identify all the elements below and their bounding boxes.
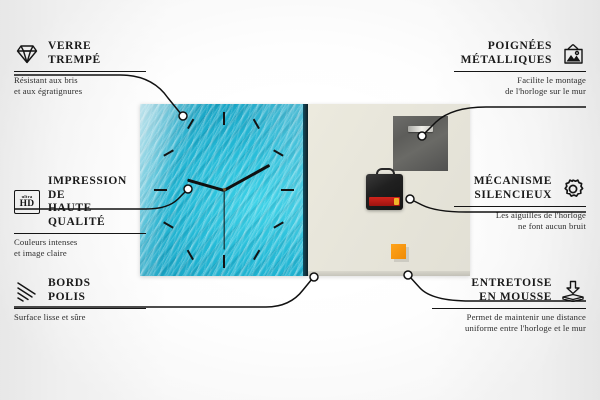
feature-impression-haute-qualite: ultra HD IMPRESSION DE HAUTE QUALITÉ Cou… xyxy=(14,175,146,259)
clock-second-hand xyxy=(223,190,224,250)
feature-subtitle-line2: uniforme entre l'horloge et le mur xyxy=(432,323,586,334)
feature-header: VERRE TREMPÉ xyxy=(14,40,146,67)
feature-title: IMPRESSION DE HAUTE QUALITÉ xyxy=(48,175,146,229)
feature-subtitle-line1: Surface lisse et sûre xyxy=(14,312,146,323)
clock-center-pin xyxy=(223,188,226,191)
ultra-hd-icon: ultra HD xyxy=(14,190,40,214)
foam-spacer-arrow-icon xyxy=(560,279,586,303)
feature-subtitle-line2: ne font aucun bruit xyxy=(454,221,586,232)
feature-subtitle-line2: et image claire xyxy=(14,248,146,259)
clock-tick-3 xyxy=(281,189,294,191)
feature-subtitle-line2: de l'horloge sur le mur xyxy=(454,86,586,97)
infographic-canvas: VERRE TREMPÉ Résistant aux bris et aux é… xyxy=(0,0,600,400)
feature-mecanisme-silencieux: MÉCANISME SILENCIEUX Les aiguilles de l'… xyxy=(454,175,586,232)
feature-header: POIGNÉES MÉTALLIQUES xyxy=(454,40,586,67)
clock-tick-6 xyxy=(223,255,225,268)
metal-hanger-plate xyxy=(393,116,448,171)
feature-subtitle-line1: Permet de maintenir une distance xyxy=(432,312,586,323)
divider xyxy=(454,71,586,72)
feature-subtitle-line1: Facilite le montage xyxy=(454,75,586,86)
feature-title: VERRE TREMPÉ xyxy=(48,40,101,67)
diamond-icon xyxy=(14,42,40,66)
gear-icon xyxy=(560,177,586,201)
divider xyxy=(454,206,586,207)
divider xyxy=(14,71,146,72)
feature-subtitle-line1: Couleurs intenses xyxy=(14,237,146,248)
divider xyxy=(14,233,146,234)
divider xyxy=(14,308,146,309)
feature-verre-trempe: VERRE TREMPÉ Résistant aux bris et aux é… xyxy=(14,40,146,97)
product-image xyxy=(140,104,470,276)
clock-tick-12 xyxy=(223,112,225,125)
wall-frame-hanger-icon xyxy=(560,42,586,66)
polished-edge-lines-icon xyxy=(14,279,40,303)
feature-title: POIGNÉES MÉTALLIQUES xyxy=(461,40,552,67)
feature-poignees-metalliques: POIGNÉES MÉTALLIQUES Facilite le montage… xyxy=(454,40,586,97)
clock-tick-9 xyxy=(154,189,167,191)
feature-entretoise-en-mousse: ENTRETOISE EN MOUSSE Permet de maintenir… xyxy=(432,277,586,334)
feature-bords-polis: BORDS POLIS Surface lisse et sûre xyxy=(14,277,146,323)
feature-title: ENTRETOISE EN MOUSSE xyxy=(471,277,552,304)
feature-header: MÉCANISME SILENCIEUX xyxy=(454,175,586,202)
battery xyxy=(369,197,400,206)
divider xyxy=(432,308,586,309)
feature-header: ultra HD IMPRESSION DE HAUTE QUALITÉ xyxy=(14,175,146,229)
metal-hanger-slot xyxy=(408,126,433,132)
foam-spacer xyxy=(391,244,406,259)
feature-title: MÉCANISME SILENCIEUX xyxy=(474,175,552,202)
feature-header: BORDS POLIS xyxy=(14,277,146,304)
feature-title: BORDS POLIS xyxy=(48,277,91,304)
feature-subtitle-line2: et aux égratignures xyxy=(14,86,146,97)
feature-subtitle-line1: Résistant aux bris xyxy=(14,75,146,86)
feature-header: ENTRETOISE EN MOUSSE xyxy=(432,277,586,304)
feature-subtitle-line1: Les aiguilles de l'horloge xyxy=(454,210,586,221)
